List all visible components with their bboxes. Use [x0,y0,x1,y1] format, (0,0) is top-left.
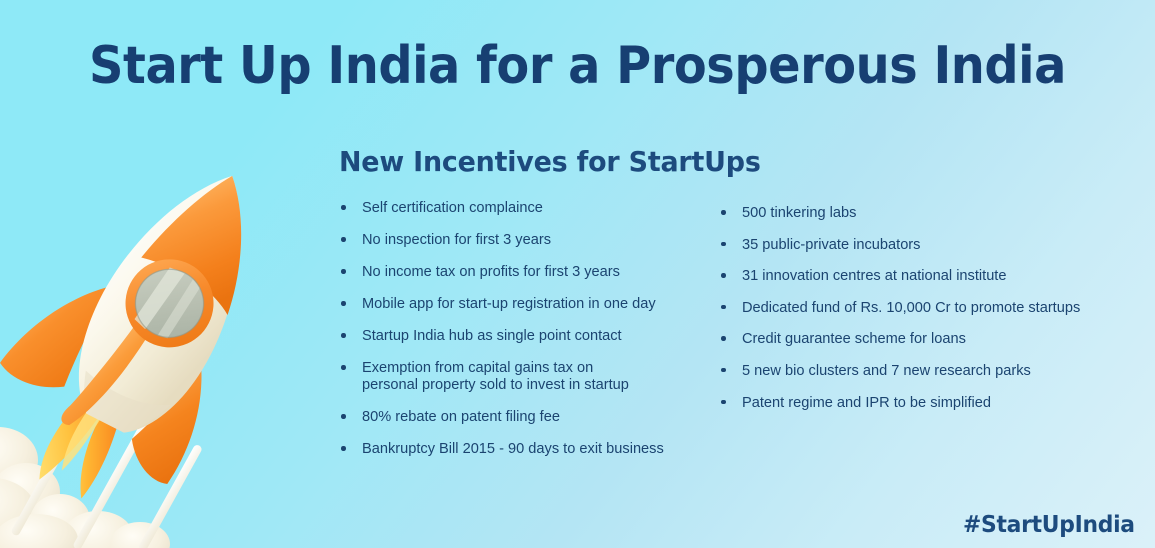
center-fin [59,310,152,440]
bullet-dot-icon [341,446,346,451]
list-item-label: Mobile app for start-up registration in … [362,296,688,313]
right-fin [120,346,227,486]
incentives-right-column: 500 tinkering labs 35 public-private inc… [718,205,1118,426]
list-item-label: Exemption from capital gains tax on pers… [362,360,688,394]
rocket-illustration [0,120,330,548]
list-item: 80% rebate on patent filing fee [338,409,688,426]
list-item: Mobile app for start-up registration in … [338,296,688,313]
bullet-dot-icon [721,242,726,247]
list-item-label: Self certification complaince [362,200,688,217]
list-item-label: 500 tinkering labs [742,205,1118,222]
nose-cone [136,156,285,315]
left-fin [0,254,116,399]
list-item-label: 31 innovation centres at national instit… [742,268,1118,285]
bullet-dot-icon [721,305,726,310]
bullet-dot-icon [341,414,346,419]
bullet-dot-icon [341,237,346,242]
list-item: No income tax on profits for first 3 yea… [338,264,688,281]
list-item: Dedicated fund of Rs. 10,000 Cr to promo… [718,300,1118,317]
smoke-clouds [0,427,170,548]
list-item: Startup India hub as single point contac… [338,328,688,345]
bullet-dot-icon [341,205,346,210]
trail-streaks [10,388,203,548]
bullet-dot-icon [721,368,726,373]
bullet-dot-icon [341,301,346,306]
list-item: Exemption from capital gains tax on pers… [338,360,688,394]
list-item: No inspection for first 3 years [338,232,688,249]
list-item: Bankruptcy Bill 2015 - 90 days to exit b… [338,441,688,458]
window [110,244,228,362]
bullet-dot-icon [341,269,346,274]
bullet-dot-icon [721,210,726,215]
list-item-label: No inspection for first 3 years [362,232,688,249]
list-item-label: 80% rebate on patent filing fee [362,409,688,426]
list-item-label: Dedicated fund of Rs. 10,000 Cr to promo… [742,300,1118,317]
list-item-label: Patent regime and IPR to be simplified [742,395,1118,412]
rocket-body [51,148,288,452]
bullet-dot-icon [721,336,726,341]
incentives-left-column: Self certification complaince No inspect… [338,200,688,473]
list-item: 5 new bio clusters and 7 new research pa… [718,363,1118,380]
list-item: 35 public-private incubators [718,237,1118,254]
list-item: 500 tinkering labs [718,205,1118,222]
bullet-dot-icon [721,273,726,278]
list-item-label: No income tax on profits for first 3 yea… [362,264,688,281]
list-item: 31 innovation centres at national instit… [718,268,1118,285]
list-item-label: 35 public-private incubators [742,237,1118,254]
list-item: Self certification complaince [338,200,688,217]
bullet-dot-icon [721,400,726,405]
bullet-dot-icon [341,365,346,370]
section-subtitle: New Incentives for StartUps [339,145,761,178]
page-title: Start Up India for a Prosperous India [46,36,1109,96]
list-item-label: Bankruptcy Bill 2015 - 90 days to exit b… [362,441,688,458]
flame [33,389,128,502]
list-item: Patent regime and IPR to be simplified [718,395,1118,412]
infographic-poster: Start Up India for a Prosperous India Ne… [0,0,1155,548]
list-item-label: 5 new bio clusters and 7 new research pa… [742,363,1118,380]
list-item: Credit guarantee scheme for loans [718,331,1118,348]
list-item-label: Credit guarantee scheme for loans [742,331,1118,348]
hashtag-label: #StartUpIndia [963,512,1135,538]
list-item-label: Startup India hub as single point contac… [362,328,688,345]
bullet-dot-icon [341,333,346,338]
